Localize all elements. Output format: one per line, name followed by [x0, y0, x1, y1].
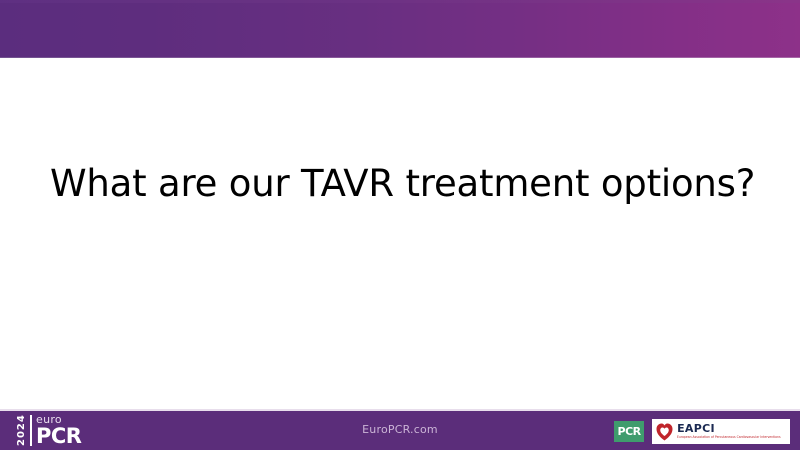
- presentation-slide: What are our TAVR treatment options? 202…: [0, 0, 800, 450]
- heart-icon: [656, 423, 673, 441]
- eapci-badge-text: EAPCI European Association of Percutaneo…: [677, 423, 785, 440]
- header-top-accent-line: [0, 0, 800, 3]
- footer-partner-logos: PCR EAPCI European Association of Percut…: [614, 419, 790, 444]
- pcr-badge-logo: PCR: [614, 421, 644, 442]
- slide-header-band: [0, 0, 800, 58]
- eapci-badge-subtitle: European Association of Percutaneous Car…: [677, 435, 781, 440]
- eapci-badge-name: EAPCI: [677, 423, 785, 435]
- eapci-badge-logo: EAPCI European Association of Percutaneo…: [652, 419, 790, 444]
- slide-body: What are our TAVR treatment options?: [0, 58, 800, 411]
- slide-title: What are our TAVR treatment options?: [50, 162, 760, 206]
